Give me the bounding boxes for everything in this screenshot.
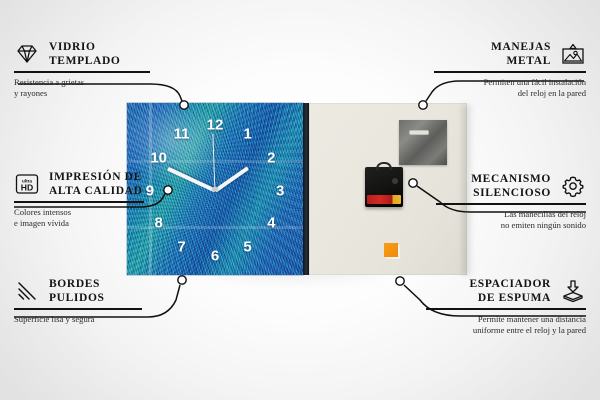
feature-desc-line1: Permiten una fácil instalación	[434, 77, 586, 89]
feature-desc-line1: Permite mantener una distancia	[426, 314, 586, 326]
feature-impresion-alta-calidad: ultra HD IMPRESIÓN DE ALTA CALIDAD Color…	[14, 170, 144, 230]
feature-desc-line1: Colores intensos	[14, 207, 144, 219]
clock-numeral-3: 3	[276, 183, 284, 198]
feature-vidrio-templado: VIDRIO TEMPLADO Resistencia a grietas y …	[14, 40, 150, 100]
clock-mechanism-box	[365, 167, 403, 207]
feature-desc-line2: del reloj en la pared	[434, 88, 586, 100]
feature-title-line1: VIDRIO	[49, 40, 121, 54]
feature-title-line2: DE ESPUMA	[469, 291, 551, 305]
feature-rule	[436, 203, 586, 205]
infographic-canvas: 12 1 2 3 4 5 6 7 8 9 10 11	[0, 0, 600, 400]
feature-desc-line2: e imagen vívida	[14, 218, 144, 230]
mechanism-battery	[367, 195, 401, 204]
clock-numeral-10: 10	[150, 151, 167, 166]
svg-text:HD: HD	[21, 182, 33, 192]
feature-rule	[426, 308, 586, 310]
feature-title-line1: IMPRESIÓN DE	[49, 170, 143, 184]
feature-title-line2: TEMPLADO	[49, 54, 121, 68]
clock-numeral-2: 2	[267, 151, 275, 166]
clock-numeral-11: 11	[174, 126, 190, 141]
mechanism-loop	[376, 162, 392, 170]
clock-numeral-4: 4	[267, 216, 275, 231]
feature-desc-line2: uniforme entre el reloj y la pared	[426, 325, 586, 337]
feature-desc-line1: Resistencia a grietas	[14, 77, 150, 89]
hanger-slot	[409, 130, 429, 135]
clock-numeral-5: 5	[243, 240, 251, 255]
feature-title-line1: BORDES	[49, 277, 105, 291]
feature-desc-line2: y rayones	[14, 88, 150, 100]
feature-desc-line1: Las manecillas del reloj	[436, 209, 586, 221]
clock-numeral-6: 6	[211, 249, 219, 264]
feature-rule	[14, 201, 144, 203]
picture-frame-icon	[560, 42, 586, 66]
feature-manejas-metal: MANEJAS METAL Permiten una fácil instala…	[434, 40, 586, 100]
clock-numeral-7: 7	[177, 240, 185, 255]
feature-rule	[434, 71, 586, 73]
feature-title-line1: MANEJAS	[491, 40, 551, 54]
gear-icon	[560, 174, 586, 198]
clock-numeral-9: 9	[146, 183, 154, 198]
feature-mecanismo-silencioso: MECANISMO SILENCIOSO Las manecillas del …	[436, 172, 586, 232]
feature-title-line2: METAL	[491, 54, 551, 68]
clock-minute-hand	[167, 167, 216, 192]
clock-center-pin	[213, 187, 218, 192]
clock-hour-hand	[214, 166, 249, 192]
feature-desc-line2: no emiten ningún sonido	[436, 220, 586, 232]
feature-espaciador-espuma: ESPACIADOR DE ESPUMA Permite mantener un…	[426, 277, 586, 337]
feature-rule	[14, 71, 150, 73]
diamond-icon	[14, 42, 40, 66]
clock-numeral-1: 1	[243, 126, 251, 141]
clock-numeral-8: 8	[155, 216, 163, 231]
feature-title-line1: ESPACIADOR	[469, 277, 551, 291]
metal-hanger-plate	[399, 120, 447, 165]
mechanism-knob	[392, 178, 398, 184]
foam-spacer-icon	[560, 279, 586, 303]
feature-title-line2: ALTA CALIDAD	[49, 184, 143, 198]
clock-second-hand	[212, 134, 215, 190]
feature-title-line1: MECANISMO	[471, 172, 551, 186]
ultra-hd-icon: ultra HD	[14, 172, 40, 196]
feature-title-line2: SILENCIOSO	[471, 186, 551, 200]
feature-rule	[14, 308, 142, 310]
polished-edges-icon	[14, 279, 40, 303]
feature-title-line2: PULIDOS	[49, 291, 105, 305]
product-photo: 12 1 2 3 4 5 6 7 8 9 10 11	[127, 103, 467, 275]
clock-numeral-12: 12	[207, 118, 224, 133]
feature-desc-line1: Superficie lisa y segura	[14, 314, 142, 326]
feature-bordes-pulidos: BORDES PULIDOS Superficie lisa y segura	[14, 277, 142, 325]
foam-spacer-square	[384, 243, 398, 257]
clock-front-face: 12 1 2 3 4 5 6 7 8 9 10 11	[127, 103, 303, 275]
